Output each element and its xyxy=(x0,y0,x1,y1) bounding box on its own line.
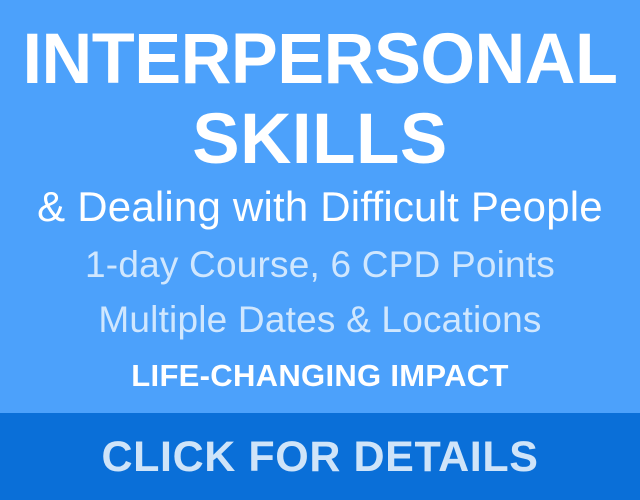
headline-line-2: SKILLS xyxy=(0,102,640,178)
cta-button[interactable]: CLICK FOR DETAILS xyxy=(0,413,640,500)
ad-message-block: INTERPERSONAL SKILLS & Dealing with Diff… xyxy=(0,0,640,413)
headline-line-1: INTERPERSONAL xyxy=(3,22,637,98)
ad-detail-dates-locations: Multiple Dates & Locations xyxy=(0,298,640,342)
ad-tagline: LIFE-CHANGING IMPACT xyxy=(0,357,640,395)
advertisement-banner[interactable]: INTERPERSONAL SKILLS & Dealing with Diff… xyxy=(0,0,640,500)
ad-subtitle: & Dealing with Difficult People xyxy=(0,183,640,231)
ad-detail-course-info: 1-day Course, 6 CPD Points xyxy=(0,243,640,287)
cta-button-label: CLICK FOR DETAILS xyxy=(102,434,539,480)
